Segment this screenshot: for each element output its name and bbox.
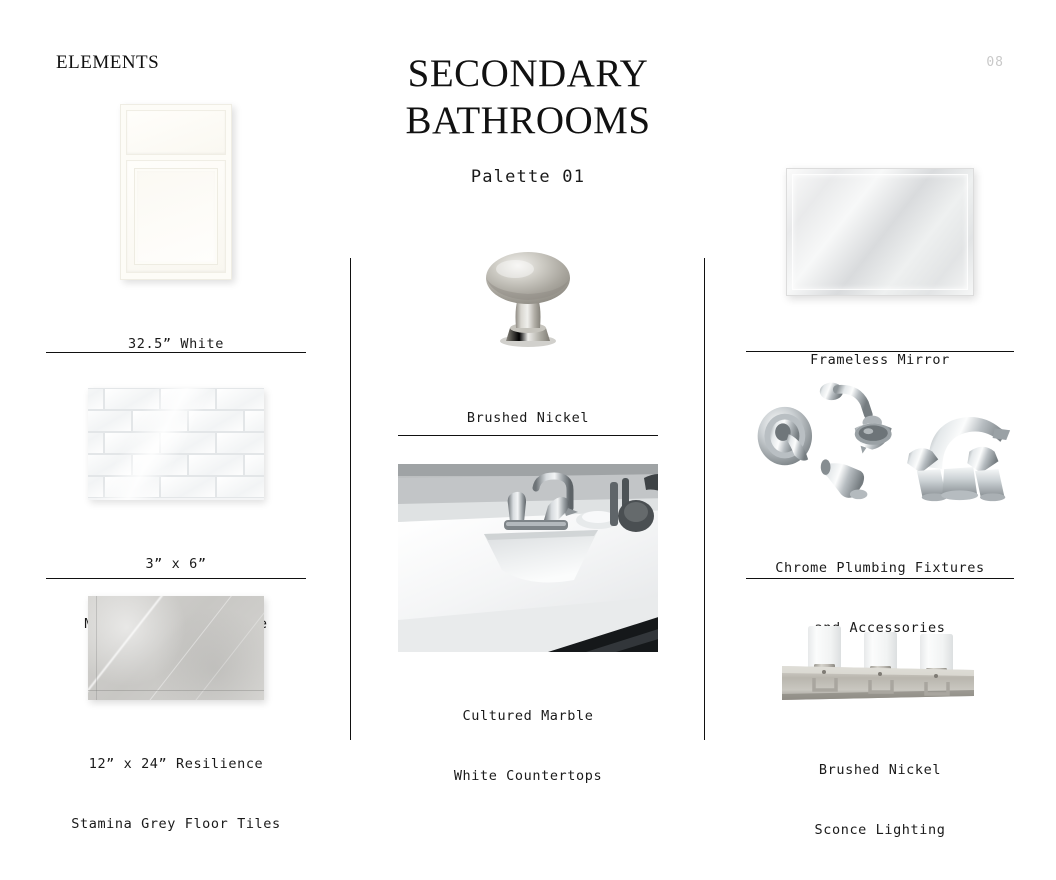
caption-line-1: 32.5” White <box>46 334 306 354</box>
element-columns: 32.5” White Shaker Cabinets <box>0 0 1056 816</box>
mirror-bevel-edge <box>792 174 968 290</box>
caption-line-1: Cultured Marble <box>398 706 658 726</box>
grout-line-vertical <box>96 596 97 700</box>
cabinet-drawer-front <box>126 110 226 155</box>
stone-tile-swatch-icon <box>88 596 264 700</box>
tile-row <box>88 432 264 454</box>
cabinet-figure <box>46 104 306 280</box>
cabinet-recessed-panel <box>134 168 218 265</box>
chrome-fixtures-group-icon <box>746 372 1014 504</box>
mirror-figure <box>746 168 1014 296</box>
mirror-swatch-icon <box>786 168 974 296</box>
three-light-vanity-bar-icon <box>774 608 986 706</box>
element-caption: 12” x 24” Resilience Stamina Grey Floor … <box>46 714 306 874</box>
countertop-figure <box>398 464 658 652</box>
sconce-figure <box>746 608 1014 706</box>
tile-row <box>88 454 264 476</box>
caption-line-1: Brushed Nickel <box>746 760 1014 780</box>
caption-line-1: 3” x 6” <box>46 554 306 574</box>
element-card-grey-floor-tile[interactable]: 12” x 24” Resilience Stamina Grey Floor … <box>46 596 306 874</box>
element-caption: Cultured Marble White Countertops <box>398 666 658 826</box>
caption-line-1: 12” x 24” Resilience <box>46 754 306 774</box>
tile-row <box>88 476 264 498</box>
caption-line-1: Frameless Mirror <box>746 350 1014 370</box>
wall-tile-figure <box>46 388 306 500</box>
tile-row <box>88 410 264 432</box>
tile-row <box>88 388 264 410</box>
caption-line-2: Stamina Grey Floor Tiles <box>46 814 306 834</box>
cabinet-door-front <box>126 160 226 273</box>
stone-vein <box>180 602 264 700</box>
column-middle: Brushed Nickel Bath Knobs <box>398 0 658 816</box>
cabinet-swatch-icon <box>120 104 232 280</box>
caption-line-2: White Countertops <box>398 766 658 786</box>
subway-tile-swatch-icon <box>88 388 264 500</box>
floor-tile-figure <box>46 596 306 700</box>
element-caption: Brushed Nickel Sconce Lighting <box>746 720 1014 880</box>
vanity-photo-illustration <box>398 464 658 652</box>
element-card-sconce-lighting[interactable]: Brushed Nickel Sconce Lighting <box>746 608 1014 880</box>
column-left: 32.5” White Shaker Cabinets <box>46 0 306 816</box>
stone-vein <box>88 596 163 700</box>
cabinet-knob-icon <box>468 242 588 354</box>
caption-line-2: Sconce Lighting <box>746 820 1014 840</box>
knob-figure <box>398 242 658 354</box>
stone-vein <box>122 596 240 700</box>
plumbing-figure <box>746 372 1014 504</box>
element-card-countertops[interactable]: Cultured Marble White Countertops <box>398 464 658 826</box>
column-right: Frameless Mirror <box>746 0 1014 816</box>
vanity-countertop-photo <box>398 464 658 652</box>
grout-line-horizontal <box>88 690 264 691</box>
caption-line-1: Chrome Plumbing Fixtures <box>746 558 1014 578</box>
caption-line-1: Brushed Nickel <box>398 408 658 428</box>
